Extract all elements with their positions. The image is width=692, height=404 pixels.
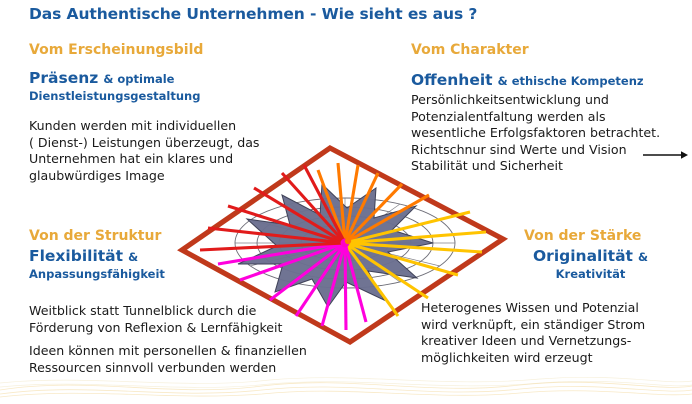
heading-top-right-big: Offenheit — [411, 71, 493, 89]
heading-top-left-line2: Dienstleistungsgestaltung — [29, 89, 200, 103]
heading-top-left-small: & optimale — [103, 72, 174, 86]
heading-bottom-left: Flexibilität & Anpassungsfähigkeit — [29, 246, 165, 281]
kicker-top-left: Vom Erscheinungsbild — [29, 42, 203, 58]
kicker-bottom-right: Von der Stärke — [524, 228, 641, 244]
heading-top-left: Präsenz & optimale Dienstleistungsgestal… — [29, 68, 200, 103]
kicker-top-right: Vom Charakter — [411, 42, 529, 58]
heading-bottom-right-small: & — [638, 250, 648, 264]
arrow-right-icon — [643, 146, 689, 165]
heading-top-right: Offenheit & ethische Kompetenz — [411, 70, 644, 89]
body-bottom-left-1: Weitblick statt Tunnelblick durch die Fö… — [29, 303, 319, 336]
decorative-wave-footer — [0, 374, 692, 400]
heading-bottom-left-big: Flexibilität — [29, 247, 123, 265]
heading-bottom-left-small: & — [128, 250, 138, 264]
heading-bottom-right-big: Originalität — [533, 247, 633, 265]
page-title: Das Authentische Unternehmen - Wie sieht… — [29, 5, 477, 23]
body-bottom-right: Heterogenes Wissen und Potenzial wird ve… — [421, 300, 689, 366]
heading-bottom-right: Originalität & Kreativität — [533, 246, 648, 281]
heading-bottom-right-line2: Kreativität — [533, 267, 648, 281]
body-top-left: Kunden werden mit individuellen ( Dienst… — [29, 118, 289, 184]
body-bottom-left-2: Ideen können mit personellen & finanziel… — [29, 343, 329, 376]
heading-bottom-left-line2: Anpassungsfähigkeit — [29, 267, 165, 281]
heading-top-left-big: Präsenz — [29, 69, 98, 87]
heading-top-right-small: & ethische Kompetenz — [498, 74, 644, 88]
slide-canvas: Das Authentische Unternehmen - Wie sieht… — [0, 0, 692, 400]
kicker-bottom-left: Von der Struktur — [29, 228, 161, 244]
